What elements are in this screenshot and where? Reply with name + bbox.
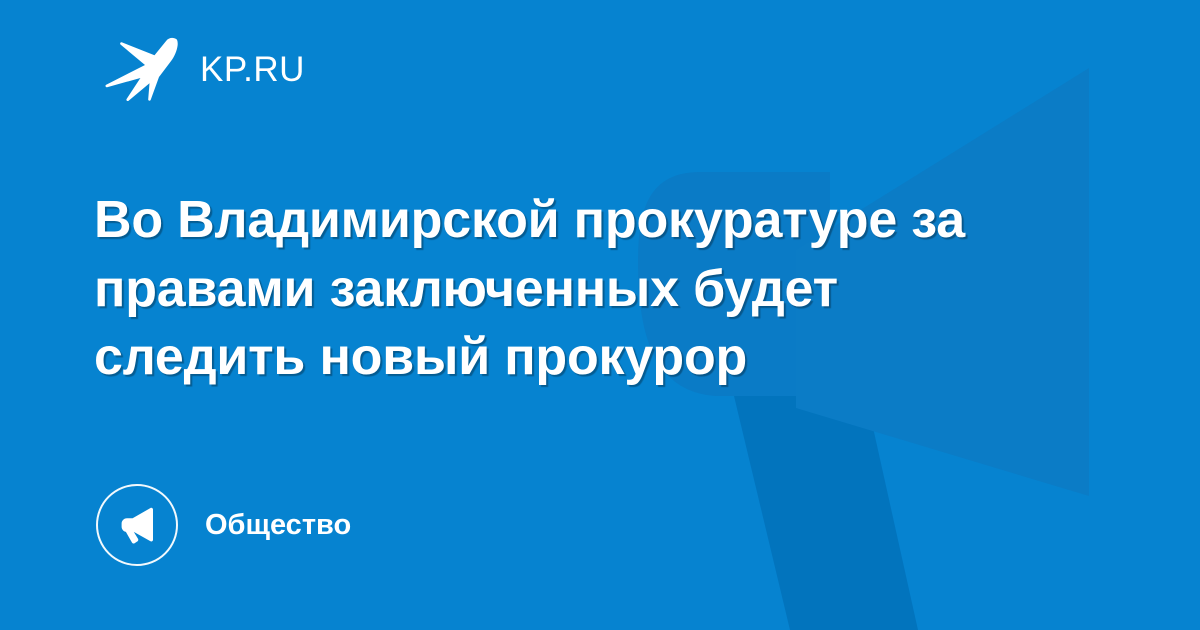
swallow-bird-icon — [104, 36, 178, 102]
rubric-label: Общество — [205, 511, 351, 540]
brand-logo[interactable]: KP.RU — [104, 36, 305, 102]
share-card: KP.RU Во Владимирской прокуратуре за пра… — [0, 0, 1200, 630]
megaphone-icon — [116, 504, 158, 546]
page-title: Во Владимирской прокуратуре за правами з… — [94, 186, 1024, 392]
rubric-icon-circle — [96, 484, 178, 566]
watermark-r-leg — [734, 396, 918, 630]
rubric-badge-group[interactable]: Общество — [96, 484, 351, 566]
brand-name: KP.RU — [200, 52, 305, 87]
